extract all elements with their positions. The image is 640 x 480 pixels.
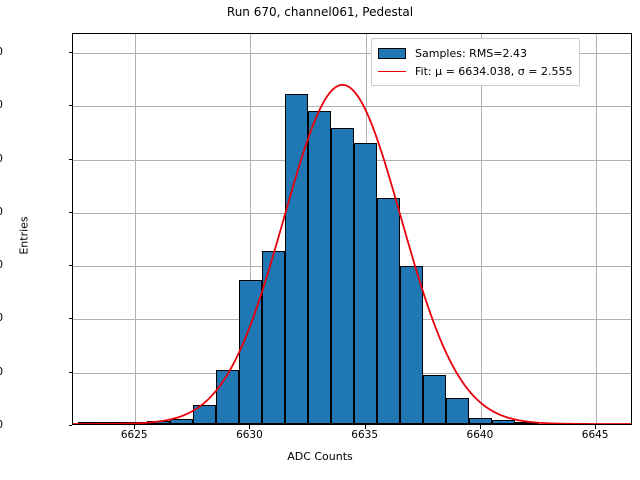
- x-tick-label: 6630: [236, 429, 263, 441]
- x-tick-label: 6625: [121, 429, 148, 441]
- x-tick-mark: [480, 425, 481, 429]
- histogram-bar: [423, 375, 446, 424]
- histogram-bar: [124, 422, 147, 424]
- legend-patch-icon: [378, 48, 406, 59]
- y-tick-label: 1500: [0, 99, 3, 111]
- y-tick-label: 1250: [0, 153, 3, 165]
- y-axis-label: Entries: [18, 136, 31, 336]
- x-tick-mark: [365, 425, 366, 429]
- histogram-bar: [354, 143, 377, 424]
- y-tick-label: 500: [0, 312, 3, 324]
- y-tick-label: 0: [0, 419, 3, 431]
- x-tick-label: 6645: [582, 429, 609, 441]
- y-tick-label: 1000: [0, 206, 3, 218]
- legend-item-samples: Samples: RMS=2.43: [378, 44, 572, 62]
- gridline-vertical: [481, 34, 482, 424]
- histogram-bar: [147, 421, 170, 424]
- histogram-bar: [308, 111, 331, 424]
- histogram-bar: [400, 266, 423, 424]
- histogram-bar: [239, 280, 262, 424]
- histogram-bar: [285, 94, 308, 424]
- gridline-vertical: [135, 34, 136, 424]
- histogram-bar: [262, 251, 285, 424]
- histogram-bar: [492, 420, 515, 424]
- histogram-bar: [78, 422, 101, 424]
- figure-canvas: Run 670, channel061, Pedestal Entries AD…: [0, 0, 640, 480]
- gridline-vertical: [596, 34, 597, 424]
- histogram-bar: [469, 418, 492, 424]
- y-tick-label: 1750: [0, 46, 3, 58]
- x-axis-label: ADC Counts: [0, 450, 640, 463]
- legend-label-samples: Samples: RMS=2.43: [415, 47, 527, 60]
- legend-label-fit: Fit: μ = 6634.038, σ = 2.555: [415, 65, 572, 78]
- page-title: Run 670, channel061, Pedestal: [0, 5, 640, 19]
- histogram-bar: [515, 422, 538, 424]
- x-tick-mark: [595, 425, 596, 429]
- legend-line-icon: [378, 71, 406, 72]
- histogram-bar: [216, 370, 239, 424]
- histogram-bar: [331, 128, 354, 424]
- y-tick-label: 750: [0, 259, 3, 271]
- legend-item-fit: Fit: μ = 6634.038, σ = 2.555: [378, 62, 572, 80]
- x-tick-label: 6635: [351, 429, 378, 441]
- histogram-bar: [170, 419, 193, 424]
- chart-legend: Samples: RMS=2.43 Fit: μ = 6634.038, σ =…: [371, 38, 580, 86]
- histogram-bar: [193, 405, 216, 424]
- y-tick-label: 250: [0, 366, 3, 378]
- x-tick-label: 6640: [467, 429, 494, 441]
- gridline-horizontal: [73, 106, 631, 107]
- histogram-bar: [101, 422, 124, 424]
- x-tick-mark: [134, 425, 135, 429]
- x-tick-mark: [249, 425, 250, 429]
- y-tick-mark: [69, 425, 73, 426]
- histogram-bar: [446, 398, 469, 424]
- histogram-bar: [377, 198, 400, 424]
- plot-area: [72, 33, 632, 425]
